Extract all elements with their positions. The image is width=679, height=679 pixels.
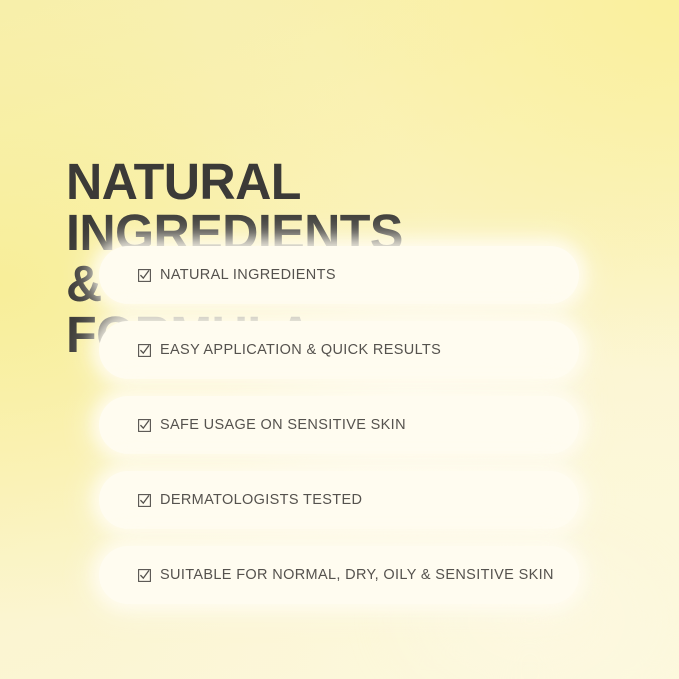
benefits-checklist: NATURAL INGREDIENTS EASY APPLICATION & Q… [99,246,579,604]
list-item-label: NATURAL INGREDIENTS [160,267,336,283]
infographic-content: NATURAL INGREDIENTS & INNOVATIVE FORMULA… [0,0,679,679]
list-item-label: SAFE USAGE ON SENSITIVE SKIN [160,417,406,433]
infographic-canvas: NATURAL INGREDIENTS & INNOVATIVE FORMULA… [0,0,679,679]
list-item-content: SAFE USAGE ON SENSITIVE SKIN [99,417,406,433]
checked-checkbox-icon [138,569,151,582]
list-item: SAFE USAGE ON SENSITIVE SKIN [99,396,579,454]
checked-checkbox-icon [138,419,151,432]
checked-checkbox-icon [138,494,151,507]
list-item-content: DERMATOLOGISTS TESTED [99,492,362,508]
list-item: SUITABLE FOR NORMAL, DRY, OILY & SENSITI… [99,546,579,604]
list-item-content: EASY APPLICATION & QUICK RESULTS [99,342,441,358]
list-item: NATURAL INGREDIENTS [99,246,579,304]
list-item-label: SUITABLE FOR NORMAL, DRY, OILY & SENSITI… [160,567,554,583]
list-item: DERMATOLOGISTS TESTED [99,471,579,529]
list-item-content: SUITABLE FOR NORMAL, DRY, OILY & SENSITI… [99,567,554,583]
list-item-content: NATURAL INGREDIENTS [99,267,336,283]
checked-checkbox-icon [138,344,151,357]
list-item: EASY APPLICATION & QUICK RESULTS [99,321,579,379]
checked-checkbox-icon [138,269,151,282]
list-item-label: DERMATOLOGISTS TESTED [160,492,362,508]
list-item-label: EASY APPLICATION & QUICK RESULTS [160,342,441,358]
